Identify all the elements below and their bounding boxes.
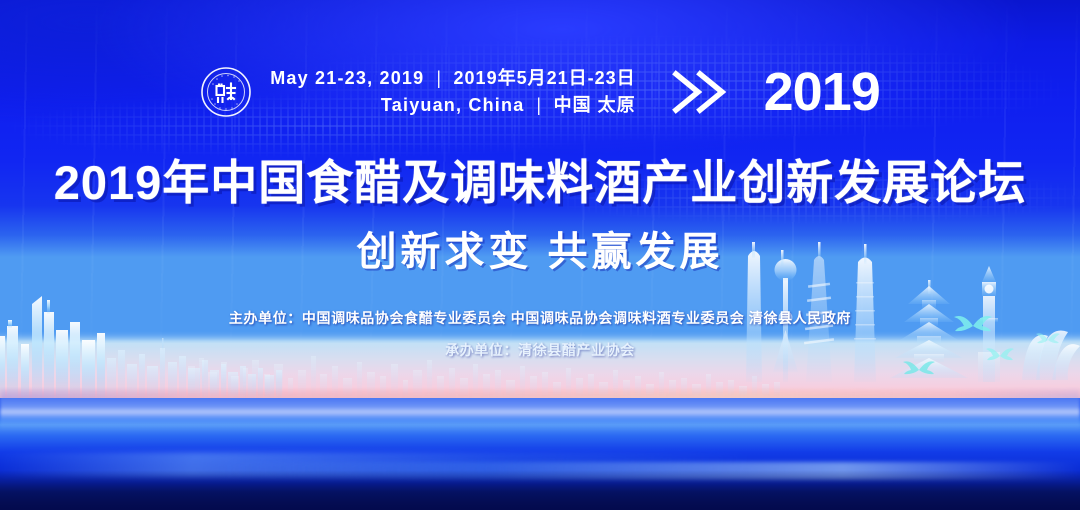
sea-light-streak-left [0,452,1080,478]
date-location-block: May 21-23, 2019 | 2019年5月21日-23日 Taiyuan… [270,65,635,119]
host-organizations: 主办单位：中国调味品协会食醋专业委员会 中国调味品协会调味料酒专业委员会 清徐县… [0,308,1080,328]
vinegar-association-seal-logo [200,66,252,118]
header-row: May 21-23, 2019 | 2019年5月21日-23日 Taiyuan… [0,52,1080,132]
double-chevron-right-icon [670,68,732,116]
sea-horizon-glow [0,392,1080,432]
date-english: May 21-23, 2019 [270,65,424,92]
year-label: 2019 [764,65,880,119]
page-subtitle: 创新求变 共赢发展 [0,228,1080,276]
location-chinese: 中国 太原 [554,92,636,119]
date-row-line2: Taiyuan, China | 中国 太原 [270,92,635,119]
location-english: Taiyuan, China [381,92,525,119]
mid-city-skyline [180,326,800,396]
sea-background [0,398,1080,510]
landmark-chinese-pagoda [890,280,968,378]
butterfly-icon-3 [902,358,936,385]
date-separator-2: | [536,92,541,119]
conference-banner: May 21-23, 2019 | 2019年5月21日-23日 Taiyuan… [0,0,1080,510]
sunset-warm-glow [0,386,1080,428]
organizing-unit: 承办单位：清徐县醋产业协会 [0,340,1080,360]
left-city-skyline [0,278,294,398]
date-row-line1: May 21-23, 2019 | 2019年5月21日-23日 [270,65,635,92]
page-title: 2019年中国食醋及调味料酒产业创新发展论坛 [0,158,1080,207]
sea-dark-bottom [0,470,1080,510]
sea-light-streak-right [0,462,1080,480]
date-separator-1: | [436,65,441,92]
date-chinese: 2019年5月21日-23日 [454,65,636,92]
